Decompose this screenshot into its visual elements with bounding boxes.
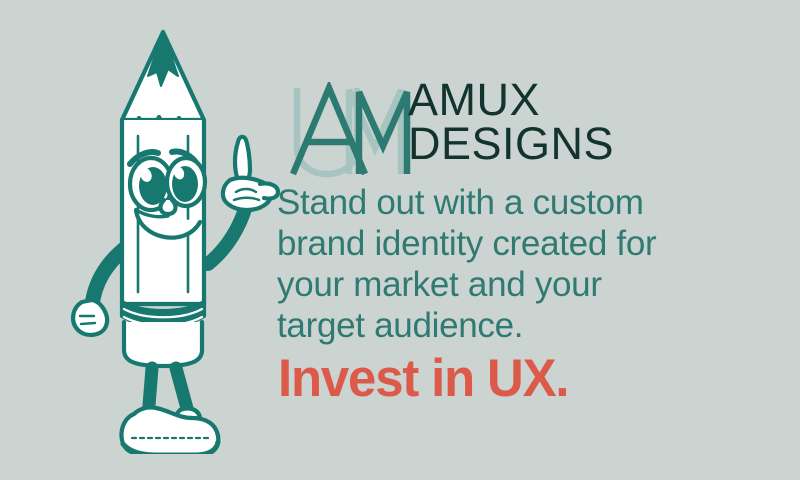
brand-name-line-2: DESIGNS xyxy=(408,122,614,166)
body-copy-line: Stand out with a custom xyxy=(277,182,747,223)
brand-name-block: AMUX DESIGNS xyxy=(408,78,614,166)
promo-canvas: AMUX DESIGNS Stand out with a custom bra… xyxy=(0,0,800,480)
body-copy-line: target audience. xyxy=(277,305,747,346)
brand-name-line-1: AMUX xyxy=(408,78,614,122)
amux-monogram-logo xyxy=(287,82,412,180)
body-copy-line: your market and your xyxy=(277,264,747,305)
pencil-mascot-illustration xyxy=(60,14,290,454)
body-copy-line: brand identity created for xyxy=(277,223,747,264)
headline-invest-in-ux: Invest in UX. xyxy=(278,348,568,409)
body-copy-block: Stand out with a custom brand identity c… xyxy=(277,182,747,346)
